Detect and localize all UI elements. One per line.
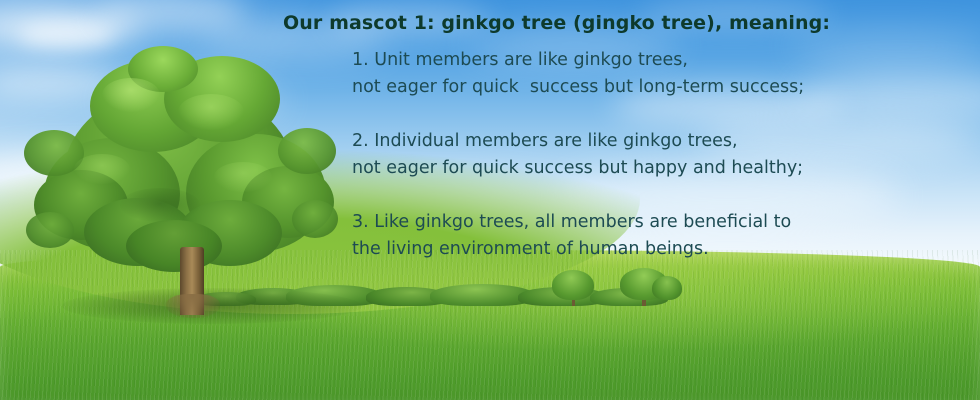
text-layer: Our mascot 1: ginkgo tree (gingko tree),… — [0, 0, 980, 400]
list-item: 2. Individual members are like ginkgo tr… — [352, 128, 912, 155]
list-item-continuation: not eager for quick success but happy an… — [352, 155, 912, 182]
list-item-continuation: the living environment of human beings. — [352, 236, 912, 263]
list-item: 3. Like ginkgo trees, all members are be… — [352, 209, 912, 236]
list-item: 1. Unit members are like ginkgo trees, — [352, 47, 912, 74]
mascot-meaning-list: 1. Unit members are like ginkgo trees, n… — [352, 47, 912, 263]
mascot-banner: Our mascot 1: ginkgo tree (gingko tree),… — [0, 0, 980, 400]
page-title: Our mascot 1: ginkgo tree (gingko tree),… — [283, 12, 830, 34]
list-item-continuation: not eager for quick success but long-ter… — [352, 74, 912, 101]
